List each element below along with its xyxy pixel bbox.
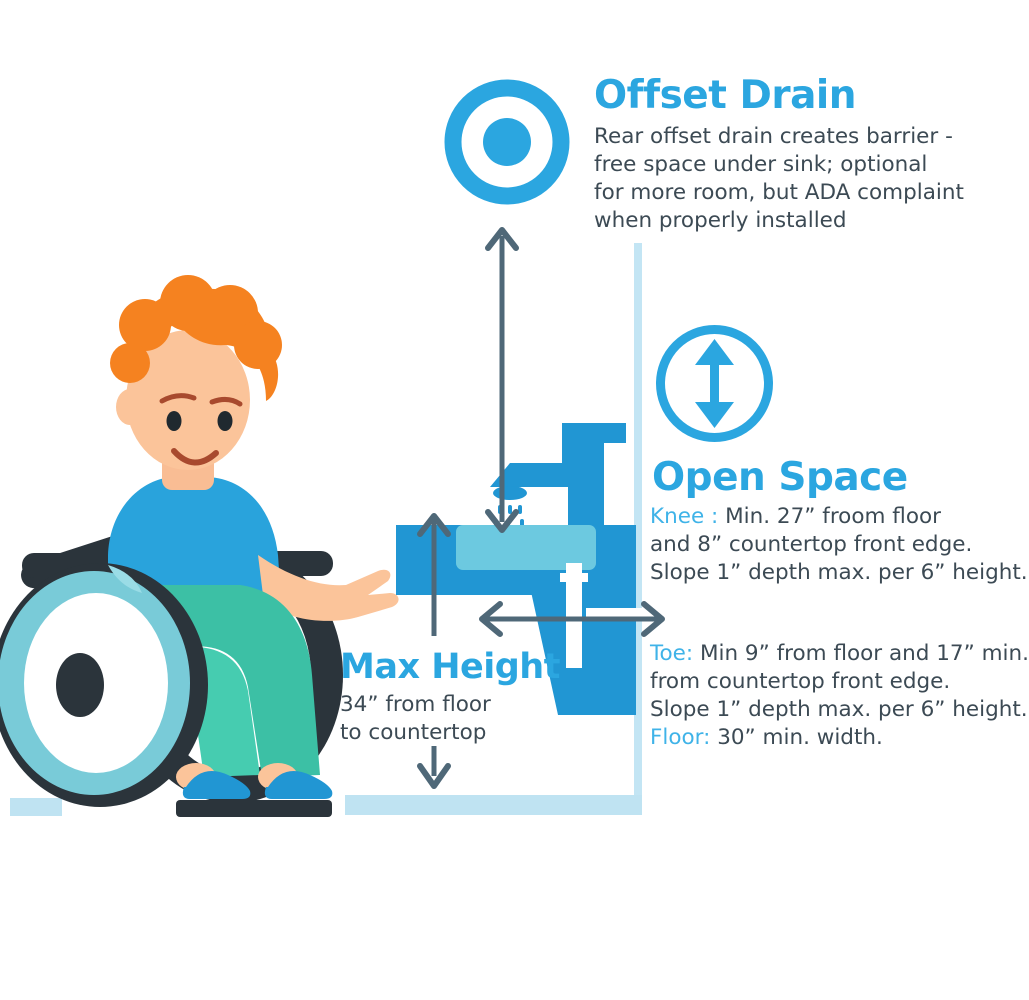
floor-line: Floor: 30” min. width. — [650, 724, 1029, 752]
max-height-line-2: to countertop — [340, 719, 620, 747]
depth-double-arrow — [472, 598, 672, 640]
offset-drain-line-4: when properly installed — [594, 207, 1024, 235]
knee-line-3: Slope 1” depth max. per 6” height. — [650, 559, 1029, 587]
offset-drain-line-3: for more room, but ADA complaint — [594, 179, 1024, 207]
knee-line-1-text: Min. 27” froom floor — [718, 504, 941, 529]
offset-drain-arrow — [482, 222, 522, 542]
max-height-heading: Max Height — [340, 650, 620, 685]
toe-label: Toe: — [650, 641, 693, 666]
open-space-heading: Open Space — [652, 458, 1029, 497]
max-height-body: 34” from floor to countertop — [340, 691, 620, 747]
offset-drain-line-1: Rear offset drain creates barrier - — [594, 123, 1024, 151]
toe-line-2: from countertop front edge. — [650, 668, 1029, 696]
toe-line-3: Slope 1” depth max. per 6” height. — [650, 696, 1029, 724]
floor-label: Floor: — [650, 725, 710, 750]
offset-drain-heading: Offset Drain — [594, 76, 1024, 115]
toe-floor-body: Toe: Min 9” from floor and 17” min. from… — [650, 640, 1029, 752]
open-space-text-block: Open Space Knee : Min. 27” froom floor a… — [650, 458, 1029, 587]
max-height-text-block: Max Height 34” from floor to countertop — [340, 650, 620, 747]
knee-line-1: Knee : Min. 27” froom floor — [650, 503, 1029, 531]
vertical-double-arrow-icon — [652, 321, 777, 446]
knee-label: Knee : — [650, 504, 718, 529]
knee-line-2: and 8” countertop front edge. — [650, 531, 1029, 559]
offset-drain-line-2: free space under sink; optional — [594, 151, 1024, 179]
offset-drain-icon — [443, 78, 571, 206]
offset-drain-text-block: Offset Drain Rear offset drain creates b… — [594, 76, 1024, 235]
toe-line-1-text: Min 9” from floor and 17” min. — [693, 641, 1029, 666]
open-space-body: Knee : Min. 27” froom floor and 8” count… — [650, 503, 1029, 587]
max-height-line-1: 34” from floor — [340, 691, 620, 719]
floor-value: 30” min. width. — [710, 725, 882, 750]
toe-line-1: Toe: Min 9” from floor and 17” min. — [650, 640, 1029, 668]
infographic-canvas: Offset Drain Rear offset drain creates b… — [0, 0, 1029, 1000]
toe-floor-text-block: Toe: Min 9” from floor and 17” min. from… — [650, 640, 1029, 752]
offset-drain-body: Rear offset drain creates barrier - free… — [594, 123, 1024, 235]
